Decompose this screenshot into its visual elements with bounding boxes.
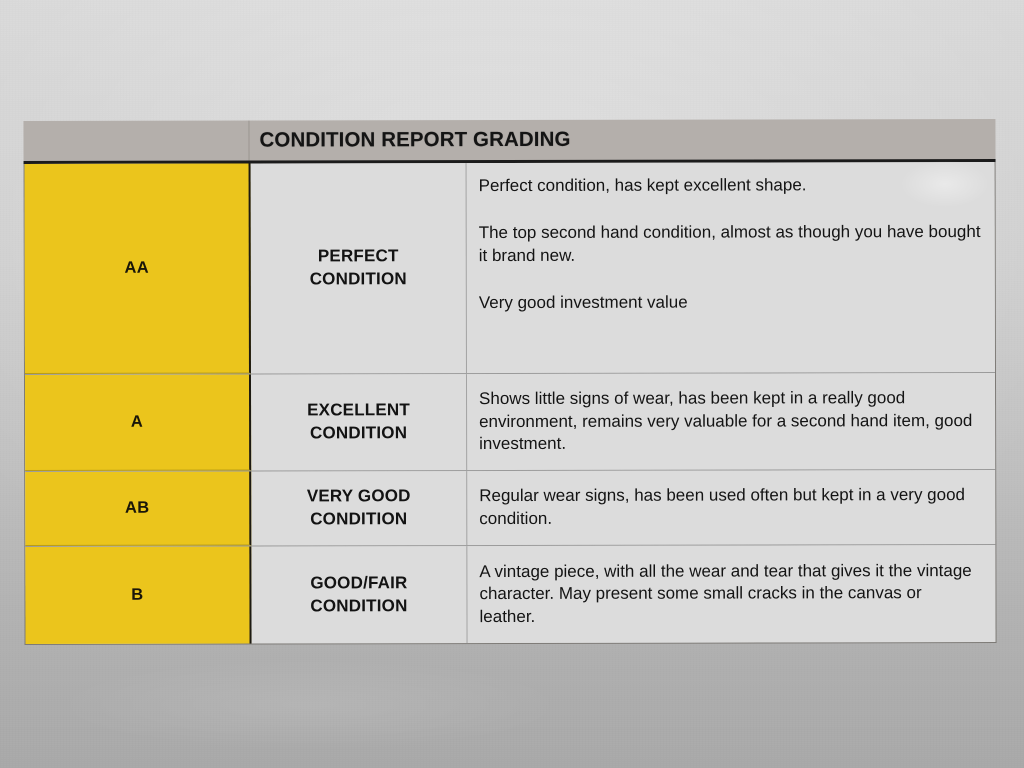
condition-name-line-1: GOOD/FAIR xyxy=(310,573,407,592)
page-title: CONDITION REPORT GRADING xyxy=(249,127,995,153)
condition-name-line-2: CONDITION xyxy=(310,423,407,442)
table-body: AA PERFECT CONDITION Perfect condition, … xyxy=(24,162,997,645)
table-row: AB VERY GOOD CONDITION Regular wear sign… xyxy=(25,470,995,547)
description-paragraph: Very good investment value xyxy=(479,291,981,315)
description-paragraph: Regular wear signs, has been used often … xyxy=(479,484,981,530)
condition-name-cell: GOOD/FAIR CONDITION xyxy=(251,546,467,643)
table-header-spacer-cell xyxy=(23,121,249,161)
table-row: AA PERFECT CONDITION Perfect condition, … xyxy=(25,162,995,375)
condition-name-cell: VERY GOOD CONDITION xyxy=(251,471,467,545)
grade-code-cell: B xyxy=(25,547,251,644)
photographed-paper-sheet: CONDITION REPORT GRADING AA PERFECT COND… xyxy=(0,0,1024,768)
condition-name-cell: PERFECT CONDITION xyxy=(251,163,467,373)
table-row: B GOOD/FAIR CONDITION A vintage piece, w… xyxy=(25,545,995,644)
grade-code-cell: A xyxy=(25,375,251,471)
condition-name-cell: EXCELLENT CONDITION xyxy=(251,374,467,470)
condition-description-cell: Perfect condition, has kept excellent sh… xyxy=(467,162,995,373)
photo-highlight-soft xyxy=(60,660,560,750)
condition-report-grading-table: CONDITION REPORT GRADING AA PERFECT COND… xyxy=(23,119,996,645)
description-paragraph: A vintage piece, with all the wear and t… xyxy=(479,560,981,629)
grade-code-cell: AA xyxy=(25,164,251,374)
condition-name-line-2: CONDITION xyxy=(310,269,407,288)
condition-name-line-2: CONDITION xyxy=(310,596,407,615)
condition-description-cell: A vintage piece, with all the wear and t… xyxy=(467,545,995,643)
table-header-row: CONDITION REPORT GRADING xyxy=(23,119,995,164)
description-paragraph: The top second hand condition, almost as… xyxy=(479,221,981,267)
condition-name-line-1: PERFECT xyxy=(318,247,399,266)
description-paragraph: Shows little signs of wear, has been kep… xyxy=(479,387,981,456)
condition-name-line-1: VERY GOOD xyxy=(307,487,411,506)
condition-name-line-2: CONDITION xyxy=(310,509,407,528)
grade-code-cell: AB xyxy=(25,472,251,546)
condition-description-cell: Regular wear signs, has been used often … xyxy=(467,470,995,545)
description-paragraph: Perfect condition, has kept excellent sh… xyxy=(479,174,981,198)
condition-name-line-1: EXCELLENT xyxy=(307,401,410,420)
condition-description-cell: Shows little signs of wear, has been kep… xyxy=(467,373,995,470)
table-row: A EXCELLENT CONDITION Shows little signs… xyxy=(25,373,995,472)
